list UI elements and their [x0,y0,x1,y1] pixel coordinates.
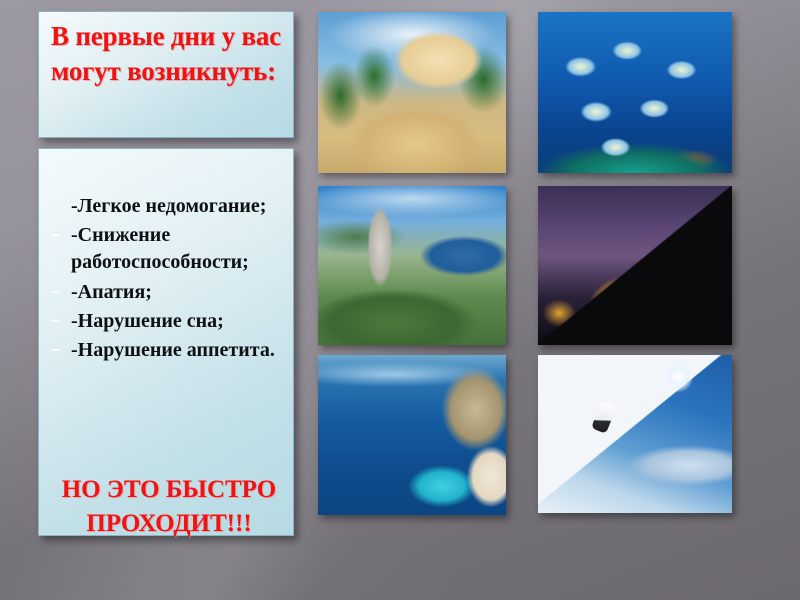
list-item-label: -Апатия; [71,281,152,303]
photo-sphinx-with-palm-trees [318,12,506,173]
symptom-list: -Легкое недомогание; -Снижение работоспо… [49,193,295,366]
photo-image [318,355,506,515]
closing-statement: НО ЭТО БЫСТРО ПРОХОДИТ!!! [38,473,300,541]
list-item-label: -Снижение работоспособности; [71,224,249,273]
page-title: В первые дни у вас могут возникнуть: [51,19,284,89]
dash-bullet-icon [51,234,59,236]
photo-pyramids-at-night [538,186,732,345]
photo-image [538,12,732,173]
list-item: -Нарушение сна; [49,308,295,335]
photo-image [318,186,506,345]
title-panel: В первые дни у вас могут возникнуть: [38,11,294,138]
presentation-slide: В первые дни у вас могут возникнуть: -Ле… [0,0,800,600]
dash-bullet-icon [51,320,59,322]
list-item-label: -Нарушение аппетита. [71,339,275,361]
photo-lakeside-cathedral-town [318,186,506,345]
dash-bullet-icon [51,291,59,293]
list-item: -Снижение работоспособности; [49,222,295,276]
photo-image [318,12,506,173]
photo-turquoise-bay-beach [318,355,506,515]
photo-image [538,355,732,513]
list-item-label: -Легкое недомогание; [71,195,266,217]
list-item: -Апатия; [49,279,295,306]
list-item-label: -Нарушение сна; [71,310,224,332]
list-item: -Нарушение аппетита. [49,337,295,364]
photo-image [538,186,732,345]
list-item: -Легкое недомогание; [49,193,295,220]
photo-tropical-fish-coral-reef [538,12,732,173]
photo-downhill-skier [538,355,732,513]
dash-bullet-icon [51,349,59,351]
